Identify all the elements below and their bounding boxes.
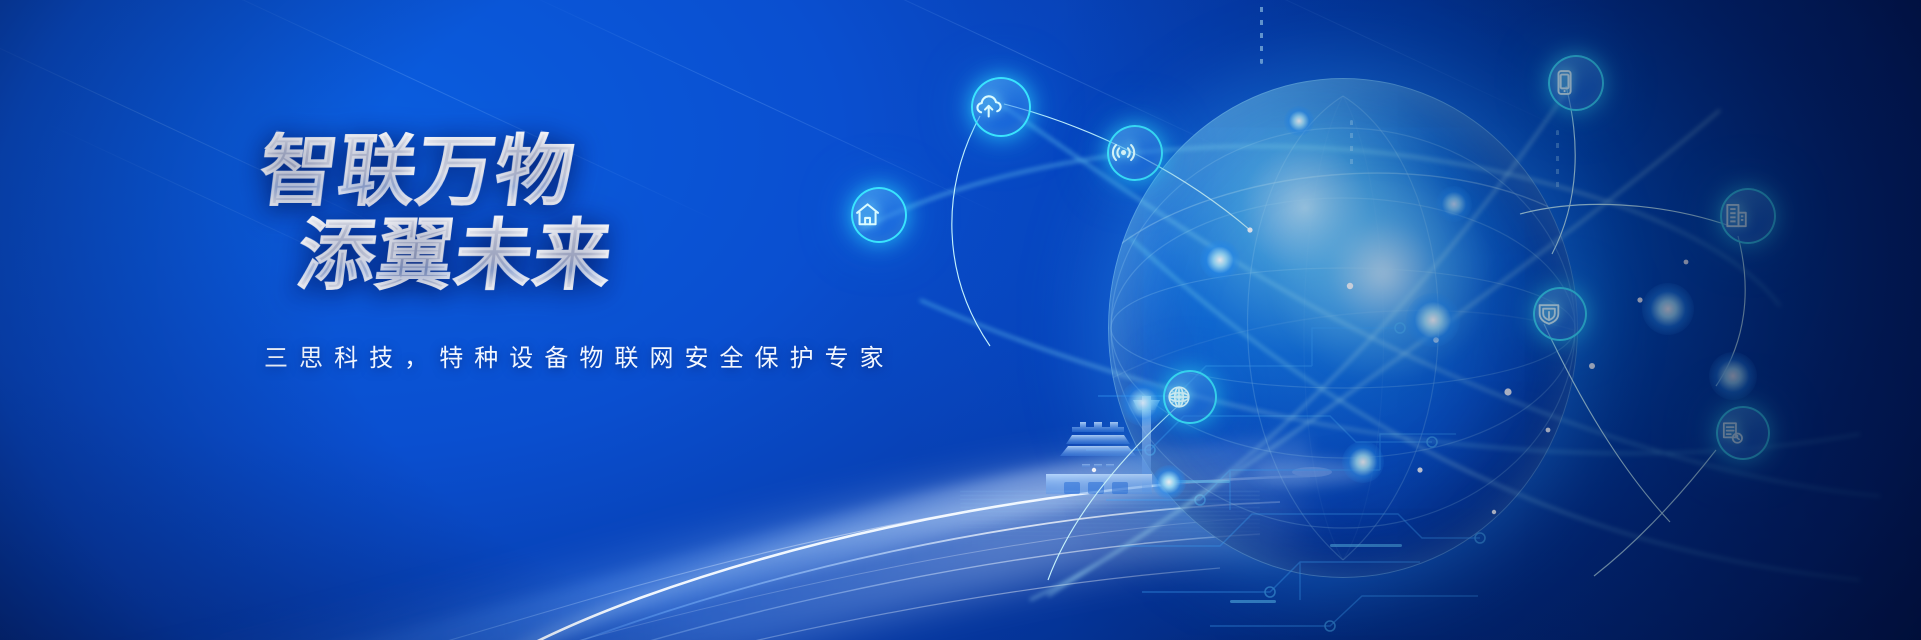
globe-network-icon bbox=[1165, 383, 1215, 411]
wifi-signal-icon-node[interactable] bbox=[1107, 125, 1163, 181]
glow-spark bbox=[1406, 293, 1460, 347]
glow-spark bbox=[1200, 240, 1240, 280]
headline-line-2: 添翼未来 bbox=[293, 216, 1015, 294]
network-globe bbox=[1108, 78, 1578, 578]
building-icon-node[interactable] bbox=[1720, 188, 1776, 244]
globe-network-icon-node[interactable] bbox=[1163, 370, 1217, 424]
wifi-signal-icon bbox=[1109, 138, 1161, 167]
hero-copy: 智联万物 添翼未来 三思科技，特种设备物联网安全保护专家 bbox=[250, 132, 1010, 373]
report-sync-icon bbox=[1718, 419, 1768, 447]
glow-spark bbox=[1436, 186, 1472, 222]
hero-subtitle: 三思科技，特种设备物联网安全保护专家 bbox=[264, 338, 1010, 373]
dotted-fall-3 bbox=[1556, 130, 1559, 192]
page-title: 智联万物 添翼未来 bbox=[250, 132, 1010, 294]
glow-spark bbox=[1284, 106, 1314, 136]
mobile-phone-icon-node[interactable] bbox=[1548, 55, 1604, 111]
globe-latitude-lines bbox=[1108, 78, 1578, 578]
shield-icon bbox=[1535, 300, 1585, 328]
cloud-upload-icon bbox=[973, 91, 1029, 122]
building-icon bbox=[1722, 201, 1774, 230]
dotted-fall-1 bbox=[1260, 0, 1263, 64]
shield-icon-node[interactable] bbox=[1533, 287, 1587, 341]
glow-spark bbox=[1709, 352, 1757, 400]
mobile-phone-icon bbox=[1550, 68, 1602, 97]
glow-spark bbox=[1120, 380, 1166, 426]
report-sync-icon-node[interactable] bbox=[1716, 406, 1770, 460]
cloud-upload-icon-node[interactable] bbox=[971, 77, 1031, 137]
headline-line-1: 智联万物 bbox=[255, 132, 1015, 210]
glow-spark bbox=[1152, 465, 1186, 499]
hero-banner: 智联万物 添翼未来 三思科技，特种设备物联网安全保护专家 bbox=[0, 0, 1921, 640]
glow-spark bbox=[1642, 283, 1694, 335]
dotted-fall-2 bbox=[1350, 120, 1353, 168]
glow-spark bbox=[1342, 441, 1384, 483]
